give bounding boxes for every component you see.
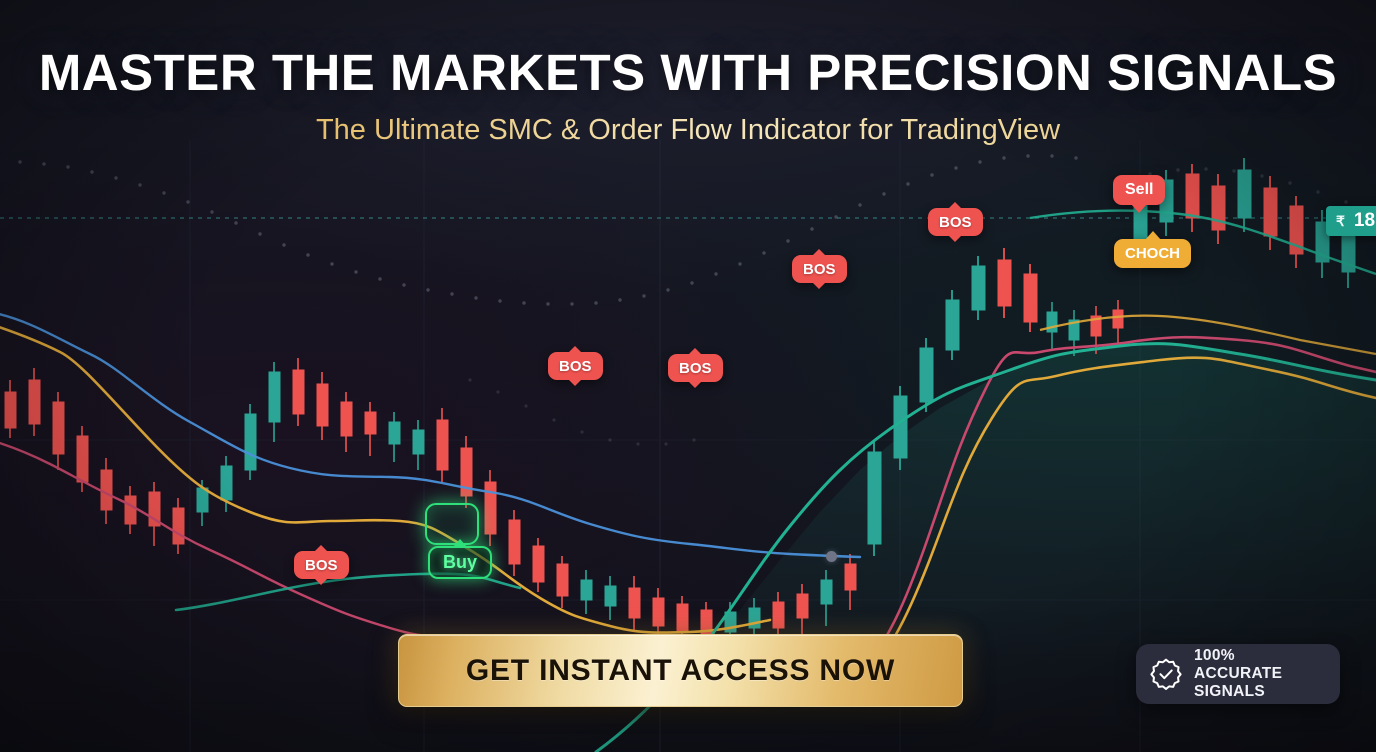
chart-marker-dot[interactable] — [826, 551, 837, 562]
sar-dots — [18, 154, 1077, 305]
header: MASTER THE MARKETS WITH PRECISION SIGNAL… — [0, 0, 1376, 147]
signal-tag-sell[interactable]: Sell — [1113, 175, 1165, 205]
accuracy-badge-line2: SIGNALS — [1194, 683, 1265, 700]
signal-tag-buy[interactable]: Buy — [428, 546, 492, 579]
cta-button-label: GET INSTANT ACCESS NOW — [466, 654, 895, 688]
page-subtitle: The Ultimate SMC & Order Flow Indicator … — [0, 113, 1376, 147]
price-tag: ₹ 18 — [1326, 206, 1376, 236]
signal-tag-bos-2[interactable]: BOS — [548, 352, 603, 380]
signal-tag-bos-4[interactable]: BOS — [792, 255, 847, 283]
signal-tag-choch[interactable]: CHOCH — [1114, 239, 1191, 268]
signal-tag-bos-1[interactable]: BOS — [294, 551, 349, 579]
page-title: MASTER THE MARKETS WITH PRECISION SIGNAL… — [0, 44, 1376, 102]
ma-teal-left — [176, 574, 520, 610]
accuracy-badge: 100% ACCURATE SIGNALS — [1136, 644, 1340, 704]
signal-tag-bos-5[interactable]: BOS — [928, 208, 983, 236]
signal-tag-bos-3[interactable]: BOS — [668, 354, 723, 382]
price-value: 18 — [1354, 210, 1375, 232]
get-instant-access-button[interactable]: GET INSTANT ACCESS NOW — [398, 634, 963, 707]
promo-banner: BOS Buy BOS BOS BOS BOS Sell CHOCH ₹ 18 … — [0, 0, 1376, 752]
sar-dots-secondary — [468, 378, 695, 445]
rupee-icon: ₹ — [1336, 213, 1345, 230]
accuracy-badge-text: 100% ACCURATE SIGNALS — [1194, 647, 1327, 701]
verified-seal-icon — [1149, 657, 1183, 691]
accuracy-badge-line1: 100% ACCURATE — [1194, 647, 1282, 682]
